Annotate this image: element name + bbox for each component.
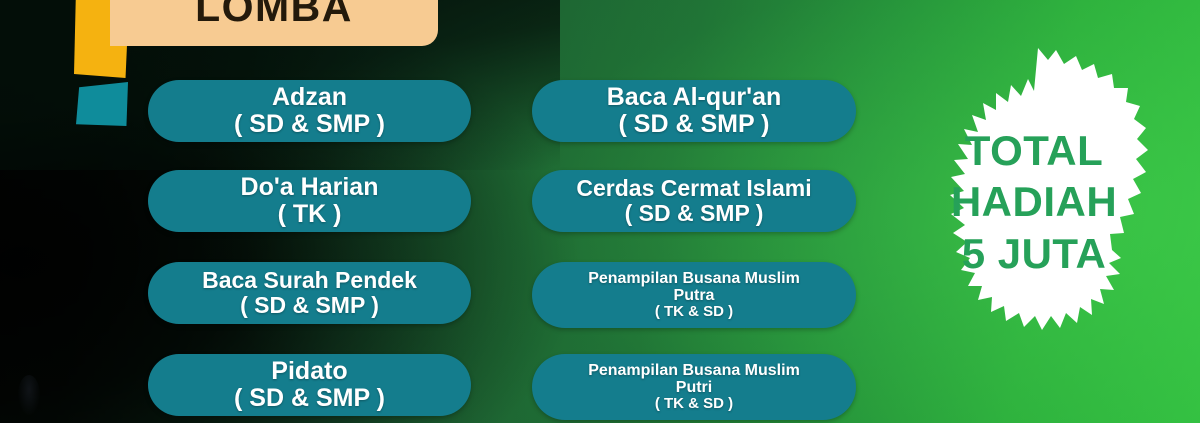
brush-circle-icon [888, 44, 1180, 360]
competition-level: ( SD & SMP ) [619, 111, 770, 138]
competition-subgroup: Putri [676, 379, 712, 396]
poster-canvas: LOMBA Adzan ( SD & SMP ) Do'a Harian ( T… [0, 0, 1200, 423]
competition-subgroup: Putra [674, 287, 715, 304]
competition-level: ( TK & SD ) [655, 304, 733, 320]
competition-pill-adzan[interactable]: Adzan ( SD & SMP ) [148, 80, 471, 142]
competition-name: Baca Surah Pendek [202, 268, 417, 293]
competition-name: Baca Al-qur'an [607, 84, 782, 111]
competition-pill-cerdas-cermat-islami[interactable]: Cerdas Cermat Islami ( SD & SMP ) [532, 170, 856, 232]
competition-pill-doa-harian[interactable]: Do'a Harian ( TK ) [148, 170, 471, 232]
competition-level: ( SD & SMP ) [234, 385, 385, 412]
competition-pill-baca-surah-pendek[interactable]: Baca Surah Pendek ( SD & SMP ) [148, 262, 471, 324]
competition-level: ( SD & SMP ) [240, 293, 379, 318]
lomba-banner: LOMBA [110, 0, 438, 46]
lomba-banner-label: LOMBA [195, 0, 353, 46]
competition-pill-busana-muslim-putri[interactable]: Penampilan Busana Muslim Putri ( TK & SD… [532, 354, 856, 420]
faint-watermark [18, 375, 40, 415]
competition-name: Cerdas Cermat Islami [576, 176, 811, 201]
competition-name: Adzan [272, 84, 347, 111]
competition-level: ( SD & SMP ) [625, 201, 764, 226]
competition-name: Pidato [271, 358, 347, 385]
competition-name: Penampilan Busana Muslim [588, 270, 800, 287]
competition-level: ( TK & SD ) [655, 396, 733, 412]
competition-pill-baca-al-quran[interactable]: Baca Al-qur'an ( SD & SMP ) [532, 80, 856, 142]
competition-pill-pidato[interactable]: Pidato ( SD & SMP ) [148, 354, 471, 416]
competition-pill-busana-muslim-putra[interactable]: Penampilan Busana Muslim Putra ( TK & SD… [532, 262, 856, 328]
competition-name: Do'a Harian [241, 174, 379, 201]
competition-level: ( TK ) [278, 201, 342, 228]
prize-badge: TOTAL HADIAH 5 JUTA [888, 44, 1180, 360]
competition-level: ( SD & SMP ) [234, 111, 385, 138]
decoration-teal-small-quad [76, 82, 128, 126]
competition-name: Penampilan Busana Muslim [588, 362, 800, 379]
